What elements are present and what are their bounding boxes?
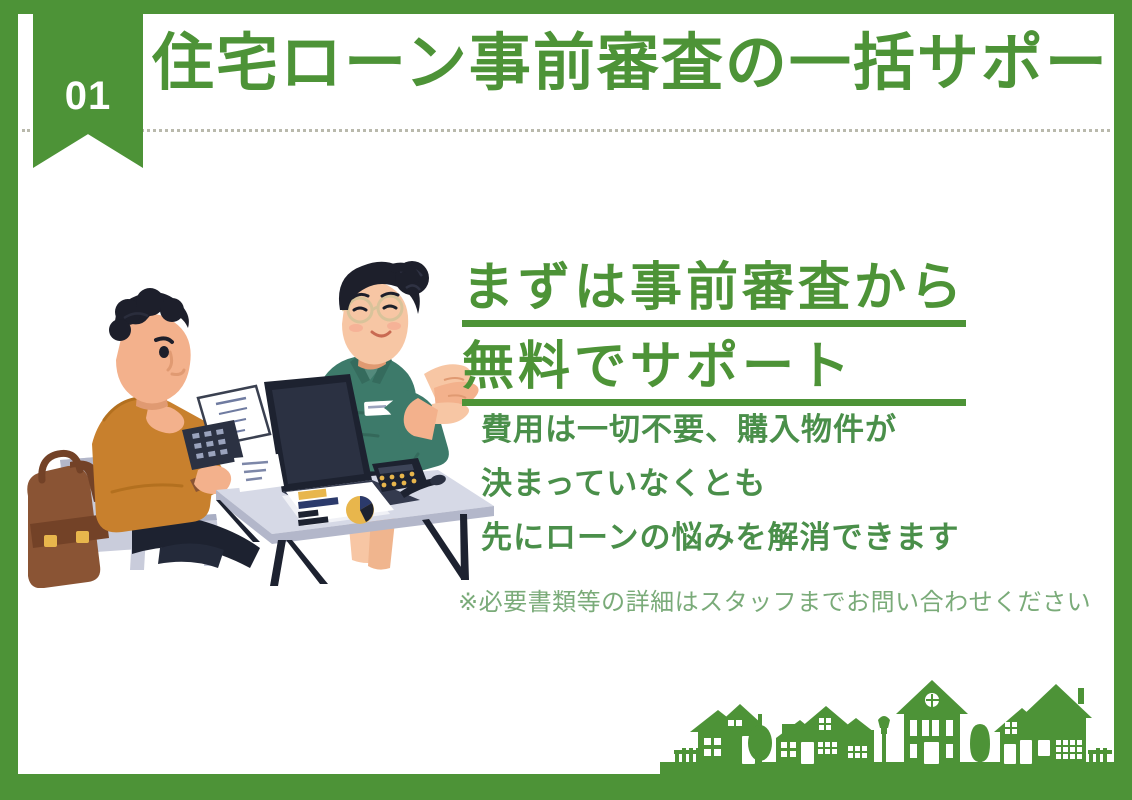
section-number-ribbon: 01 [33, 14, 143, 168]
frame-border-left [0, 0, 18, 800]
body-line-3: 先にローンの悩みを解消できます [481, 523, 959, 554]
headline-line-1: まずは事前審査から [462, 262, 966, 327]
section-number-label: 01 [65, 76, 112, 116]
body-line-1: 費用は一切不要、購入物件が [481, 415, 959, 446]
desk-papers-note [234, 454, 284, 492]
house-skyline [660, 658, 1116, 774]
headline-block: まずは事前審査から 無料でサポート [462, 262, 966, 406]
slide-root: 01 住宅ローン事前審査の一括サポート [0, 0, 1132, 800]
page-title: 住宅ローン事前審査の一括サポート [152, 28, 1132, 97]
frame-border-bottom [0, 774, 1132, 800]
footnote-text: ※必要書類等の詳細はスタッフまでお問い合わせください [458, 582, 1091, 617]
body-line-2: 決まっていなくとも [481, 469, 959, 500]
frame-border-right [1114, 0, 1132, 800]
header-dotted-divider [22, 129, 1110, 132]
headline-line-2: 無料でサポート [462, 341, 966, 406]
body-copy-block: 費用は一切不要、購入物件が 決まっていなくとも 先にローンの悩みを解消できます [481, 415, 959, 577]
consultation-illustration [20, 248, 500, 588]
frame-border-top [0, 0, 1132, 14]
